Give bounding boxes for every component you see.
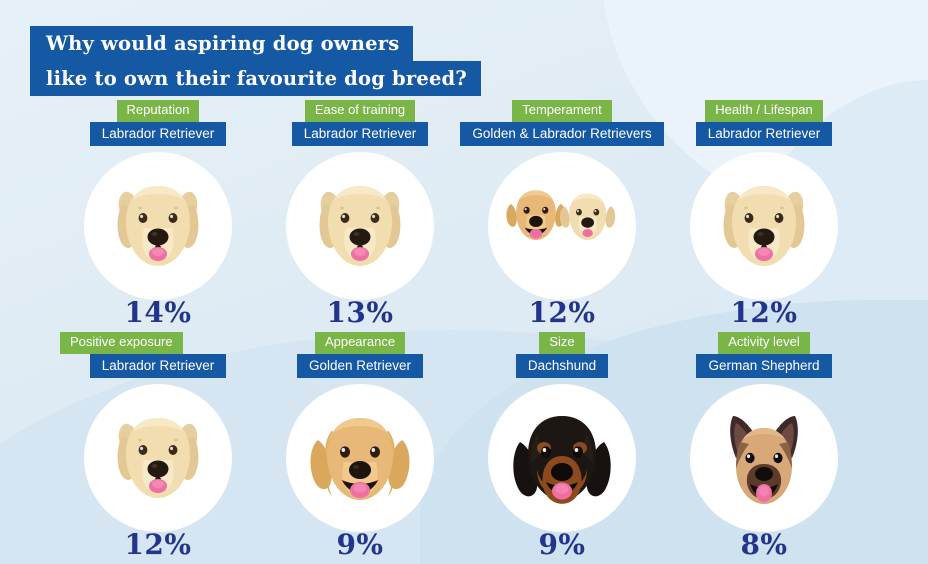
cell-badges: Positive exposure Labrador Retriever (42, 332, 274, 378)
reason-cell-positive-exposure: Positive exposure Labrador Retriever (42, 332, 274, 561)
cell-badges: Health / Lifespan Labrador Retriever (648, 100, 880, 146)
breed-badge: Labrador Retriever (696, 122, 833, 147)
percent-value: 12% (730, 296, 797, 329)
labrador-retriever-face-icon (706, 168, 822, 284)
breed-portrait-disc (488, 152, 636, 300)
golden-retriever-face-icon (302, 400, 418, 516)
reason-badge: Size (539, 332, 584, 354)
reason-cell-size: Size Dachshund (446, 332, 678, 561)
cell-badges: Activity level German Shepherd (648, 332, 880, 378)
reason-badge: Positive exposure (60, 332, 183, 354)
reason-badge: Ease of training (305, 100, 415, 122)
reason-cell-health-lifespan: Health / Lifespan Labrador Retriever (648, 100, 880, 329)
breed-badge: Golden Retriever (297, 354, 423, 379)
breed-badge: Labrador Retriever (292, 122, 429, 147)
infographic-canvas: Why would aspiring dog owners like to ow… (0, 0, 928, 564)
golden-and-labrador-retrievers-faces-icon (504, 168, 620, 284)
percent-value: 9% (538, 528, 585, 561)
breed-portrait-disc (690, 152, 838, 300)
cell-badges: Reputation Labrador Retriever (42, 100, 274, 146)
percent-value: 12% (124, 528, 191, 561)
breed-badge: Labrador Retriever (90, 122, 227, 147)
breed-portrait-disc (84, 152, 232, 300)
title-line-2: like to own their favourite dog breed? (30, 61, 481, 96)
breed-portrait-disc (286, 152, 434, 300)
title-line-1: Why would aspiring dog owners (30, 26, 413, 61)
reason-cell-ease-of-training: Ease of training Labrador Retriever (244, 100, 476, 329)
breed-portrait-disc (690, 384, 838, 532)
page-title: Why would aspiring dog owners like to ow… (30, 26, 481, 96)
reason-badge: Reputation (117, 100, 200, 122)
cell-badges: Size Dachshund (446, 332, 678, 378)
cell-badges: Temperament Golden & Labrador Retrievers (446, 100, 678, 146)
reason-cell-activity-level: Activity level German Shepherd (648, 332, 880, 561)
reason-badge: Health / Lifespan (705, 100, 823, 122)
reason-cell-temperament: Temperament Golden & Labrador Retrievers (446, 100, 678, 329)
breed-badge: Golden & Labrador Retrievers (460, 122, 663, 147)
labrador-retriever-face-icon (100, 400, 216, 516)
grid-row-2: Positive exposure Labrador Retriever (0, 332, 928, 564)
breed-portrait-disc (488, 384, 636, 532)
percent-value: 9% (336, 528, 383, 561)
percent-value: 13% (326, 296, 393, 329)
breed-badge: German Shepherd (696, 354, 831, 379)
labrador-retriever-face-icon (302, 168, 418, 284)
reason-cell-reputation: Reputation Labrador Retriever (42, 100, 274, 329)
breed-reason-grid: Reputation Labrador Retriever (0, 100, 928, 564)
percent-value: 12% (528, 296, 595, 329)
cell-badges: Ease of training Labrador Retriever (244, 100, 476, 146)
breed-portrait-disc (286, 384, 434, 532)
grid-row-1: Reputation Labrador Retriever (0, 100, 928, 332)
percent-value: 8% (740, 528, 787, 561)
reason-badge: Appearance (315, 332, 405, 354)
reason-badge: Temperament (512, 100, 611, 122)
breed-badge: Dachshund (516, 354, 608, 379)
breed-badge: Labrador Retriever (90, 354, 227, 379)
reason-badge: Activity level (718, 332, 810, 354)
reason-cell-appearance: Appearance Golden Retriever (244, 332, 476, 561)
percent-value: 14% (124, 296, 191, 329)
breed-portrait-disc (84, 384, 232, 532)
dachshund-face-icon (504, 400, 620, 516)
german-shepherd-face-icon (706, 400, 822, 516)
cell-badges: Appearance Golden Retriever (244, 332, 476, 378)
labrador-retriever-face-icon (100, 168, 216, 284)
